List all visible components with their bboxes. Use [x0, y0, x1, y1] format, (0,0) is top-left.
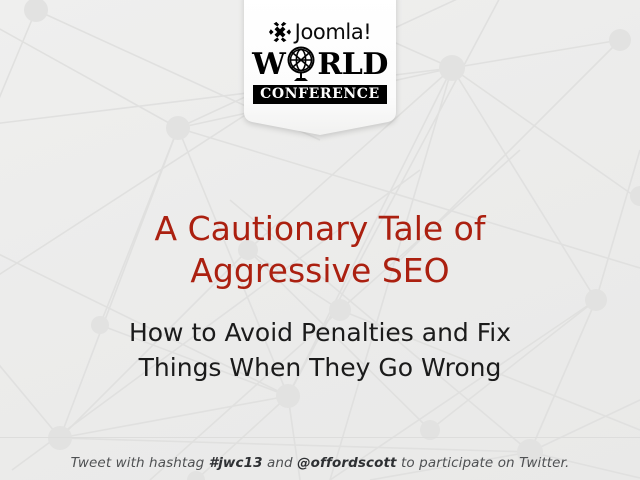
conference-label: CONFERENCE [253, 85, 387, 104]
world-letters-rld: RLD [317, 50, 388, 80]
event-logo-content: Joomla! W RL [236, 0, 404, 122]
slide-title-line-2: Aggressive SEO [0, 250, 640, 292]
footer-hashtag: #jwc13 [209, 455, 263, 471]
footer-divider [0, 437, 640, 438]
footer-text-part-2: and [263, 455, 297, 471]
slide-subtitle-line-2: Things When They Go Wrong [0, 350, 640, 386]
joomla-brand-word: Joomla! [295, 22, 372, 43]
world-word-row: W RLD [252, 48, 388, 82]
footer-text-part-1: Tweet with hashtag [71, 455, 209, 471]
slide-title: A Cautionary Tale of Aggressive SEO [0, 208, 640, 291]
globe-icon [285, 45, 317, 85]
presentation-slide: Joomla! W RL [0, 0, 640, 480]
footer-twitter-handle: @offordscott [297, 455, 397, 471]
footer-text-part-3: to participate on Twitter. [397, 455, 570, 471]
joomla-logo-icon [269, 21, 291, 43]
event-logo-banner: Joomla! W RL [236, 0, 404, 146]
world-letter-w: W [252, 50, 285, 80]
slide-subtitle: How to Avoid Penalties and Fix Things Wh… [0, 315, 640, 386]
slide-subtitle-line-1: How to Avoid Penalties and Fix [0, 315, 640, 351]
footer-twitter-note: Tweet with hashtag #jwc13 and @offordsco… [0, 455, 640, 471]
slide-title-line-1: A Cautionary Tale of [0, 208, 640, 250]
joomla-brand-row: Joomla! [269, 19, 372, 45]
